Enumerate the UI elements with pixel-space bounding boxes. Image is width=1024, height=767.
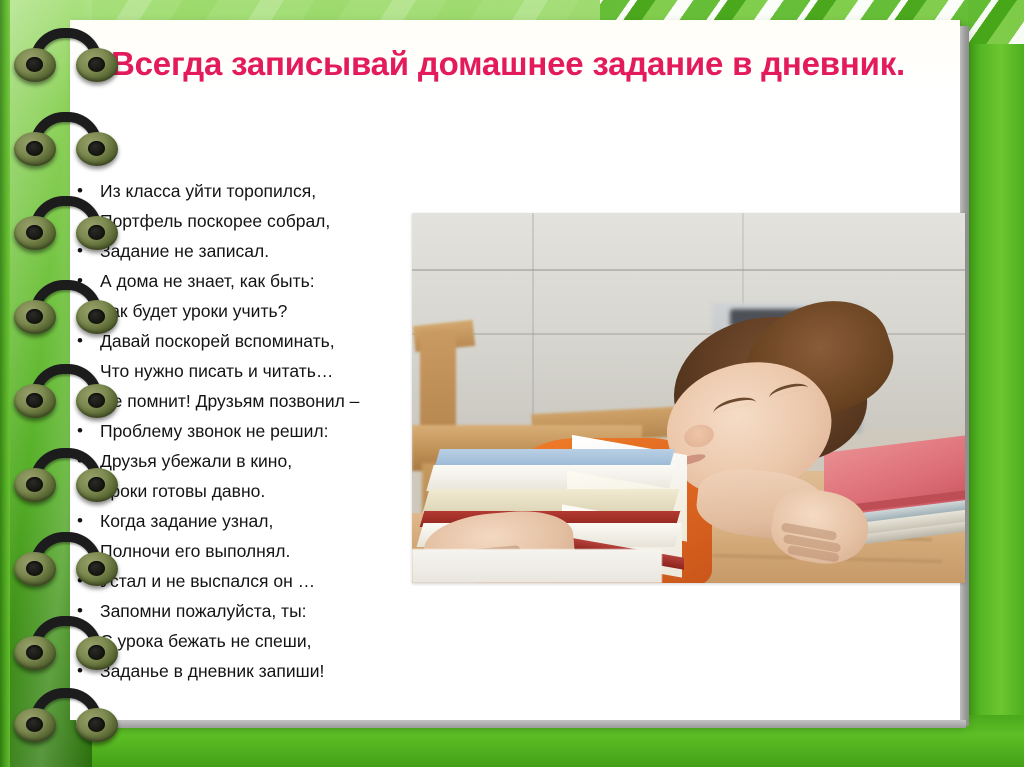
binding-washer-left: [14, 468, 56, 502]
binding-ring: [14, 280, 118, 330]
binding-washer-right: [76, 636, 118, 670]
list-item-text: Проблему звонок не решил:: [100, 416, 405, 446]
binding-washer-left: [14, 708, 56, 742]
list-item-text: Полночи его выполнял.: [100, 536, 405, 566]
binding-washer-right: [76, 48, 118, 82]
binding-ring: [14, 28, 118, 78]
binding-washer-left: [14, 216, 56, 250]
photo-wall-tile-line: [412, 269, 965, 271]
photo-sleeping-boy: [412, 213, 965, 583]
binding-washer-left: [14, 552, 56, 586]
list-item-text: Устал и не выспался он …: [100, 566, 405, 596]
binding-washer-right: [76, 216, 118, 250]
slide-root: Всегда записывай домашнее задание в днев…: [0, 0, 1024, 767]
binding-ring: [14, 112, 118, 162]
list-item-text: Портфель поскорее собрал,: [100, 206, 405, 236]
binding-washer-left: [14, 300, 56, 334]
page-bottom-edge: [76, 720, 966, 728]
photo-paper-sheet: [412, 549, 662, 583]
list-item-text: Не помнит! Друзьям позвонил –: [100, 386, 405, 416]
photo-wall-tile-line: [532, 213, 534, 428]
list-item-text: Уроки готовы давно.: [100, 476, 405, 506]
binding-washer-left: [14, 636, 56, 670]
binding-washer-right: [76, 708, 118, 742]
photo-book-cream-pages: [423, 489, 680, 513]
binding-washer-right: [76, 300, 118, 334]
binding-washer-right: [76, 468, 118, 502]
list-item-text: Когда задание узнал,: [100, 506, 405, 536]
list-item-text: Запомни пожалуйста, ты:: [100, 596, 405, 626]
binding-washer-right: [76, 384, 118, 418]
list-item-text: Как будет уроки учить?: [100, 296, 405, 326]
list-item-text: Что нужно писать и читать…: [100, 356, 405, 386]
list-item-text: Давай поскорей вспоминать,: [100, 326, 405, 356]
frame-right-rail: [968, 0, 1024, 767]
binding-washer-left: [14, 48, 56, 82]
binding-ring: [14, 688, 118, 738]
binding-ring: [14, 532, 118, 582]
binding-ring: [14, 196, 118, 246]
spiral-binding: [0, 0, 130, 767]
binding-washer-right: [76, 552, 118, 586]
binding-ring: [14, 364, 118, 414]
list-item-text: Заданье в дневник запиши!: [100, 656, 405, 686]
list-item-text: А дома не знает, как быть:: [100, 266, 405, 296]
binding-washer-left: [14, 132, 56, 166]
list-item-text: Задание не записал.: [100, 236, 405, 266]
page-title: Всегда записывай домашнее задание в днев…: [98, 42, 918, 86]
list-item-text: Друзья убежали в кино,: [100, 446, 405, 476]
binding-washer-right: [76, 132, 118, 166]
binding-washer-left: [14, 384, 56, 418]
binding-ring: [14, 448, 118, 498]
binding-ring: [14, 616, 118, 666]
list-item-text: Из класса уйти торопился,: [100, 176, 405, 206]
list-item-text: С урока бежать не спеши,: [100, 626, 405, 656]
